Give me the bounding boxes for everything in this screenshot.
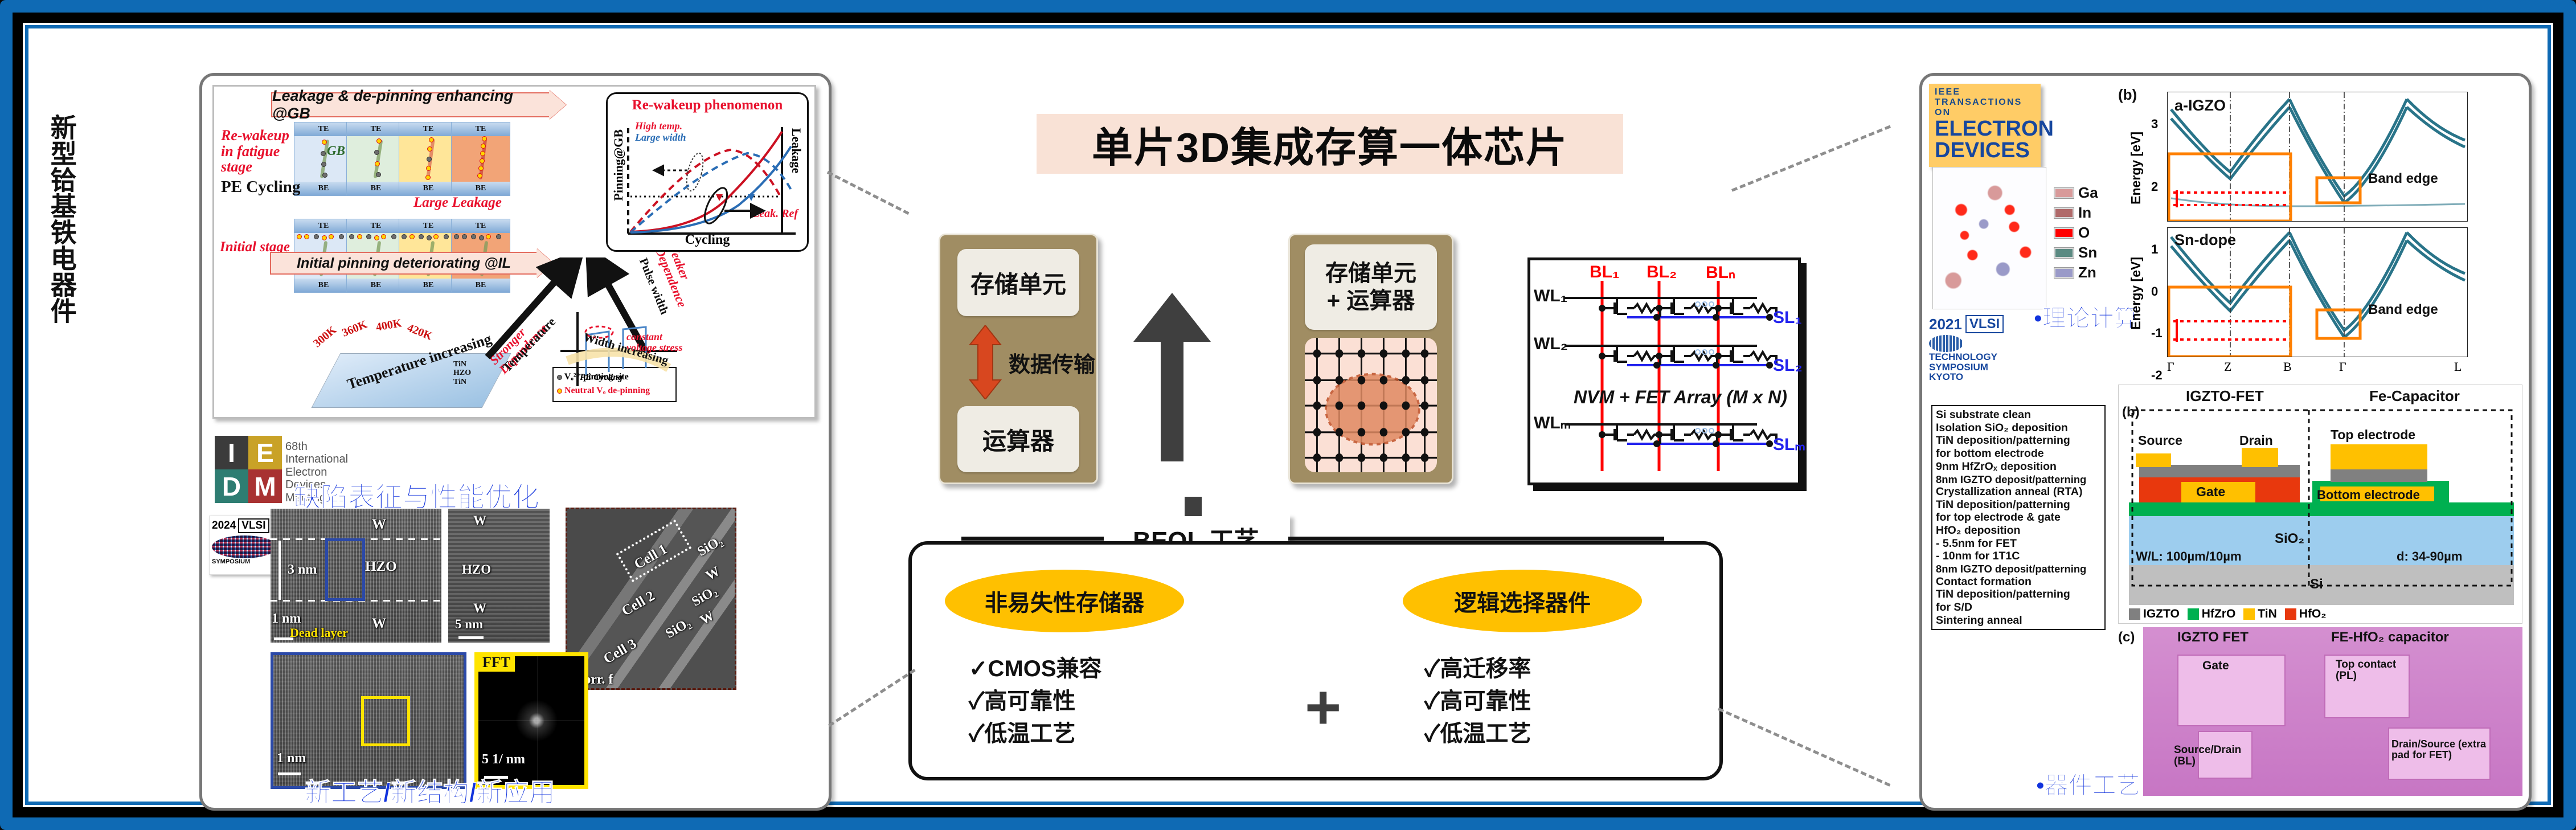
pill-logic-selector: 逻辑选择器件 [1403,570,1642,632]
rewakeup-chart: Re-wakeup phenomenon Pinning@GB Leakage … [606,92,809,252]
legend-hfzro: HfZrO [2202,607,2236,621]
band-edge-label-2: Band edge [2368,303,2438,317]
bitline-2-label: BL₂ [1647,263,1677,282]
o-label: O [2078,224,2090,242]
tem2-label-w-top: W [473,513,486,528]
legend-item: In [2054,204,2098,222]
fft-image: 5 1/ nm [474,652,588,789]
process-flow-box: Si substrate clean Isolation SiO₂ deposi… [1931,405,2106,630]
mim-te-label: TE [399,122,457,136]
ytick-3: 3 [2151,93,2158,156]
xsec-material-legend: IGZTO HfZrO TiN HfO₂ [2129,607,2327,621]
ieee-ted-badge: IEEE TRANSACTIONS ON ELECTRON DEVICES [1929,84,2041,167]
layer-tin-top: TiN [453,360,471,369]
band-yticks-bottom: 1 0 -1 -2 [2151,228,2163,396]
legend-item: O [2054,224,2098,242]
proc-step-14: Contact formation [1936,575,2101,588]
proc-step-10: HfO₂ deposition [1936,524,2101,537]
array-caption: NVM + FET Array (M x N) [1574,387,1787,408]
xsec-drain-label: Drain [2239,433,2273,448]
wordline-m-label: WLₘ [1534,413,1571,433]
mim-be-label: BE [347,182,405,195]
mim-be-label: BE [399,279,457,292]
mim-te-label: TE [452,219,510,233]
ytick-b-0: 0 [2151,271,2163,313]
label-large-leakage: Large Leakage [413,195,502,211]
band-panel-label: (b) [2118,86,2137,104]
mim-be-label: BE [294,182,353,195]
micro-gate-label: Gate [2202,659,2229,673]
proc-step-6: 8nm IGZTO deposit/patterning [1936,473,2101,485]
right-panel: IEEE TRANSACTIONS ON ELECTRON DEVICES Ga… [1919,73,2532,811]
micro-sourcedrain-label: Source/Drain (BL) [2174,745,2248,767]
xsec-topelec-label: Top electrode [2331,427,2415,443]
xsec-botelec-label: Bottom electrode [2317,488,2420,502]
pe-hysteresis-inset: constant voltage stress Width increasing… [555,306,686,392]
igzo-atomic-model [1932,167,2046,309]
mim-te-label: TE [399,219,457,233]
tem4-label-1nm: 1 nm [277,751,306,766]
legend-tin: TiN [2258,607,2276,621]
tem1-label-1nm: 1 nm [272,611,301,627]
mim-te-label: TE [347,122,405,136]
temp-300k: 300K [311,324,339,350]
wordline-1-label: WL₁ [1534,287,1567,306]
proc-step-7: Crystallization anneal (RTA) [1936,485,2101,498]
mim-te-label: TE [452,122,510,136]
arch-crossbar [1305,338,1437,472]
temp-400k: 400K [375,317,403,334]
logic-item-2: ✓高可靠性 [1424,685,1531,718]
proc-step-15: TiN deposition/patterning [1936,588,2101,601]
sourceline-1-label: SL₁ [1773,308,1802,328]
temp-360k: 360K [340,318,369,340]
xsec-dim-left: W/L: 100µm/10µm [2136,549,2242,564]
vlsi-emblem [212,535,277,558]
arch-card-separate: 存储单元 数据传输 运算器 [939,234,1098,484]
proc-step-12: - 10nm for 1T1C [1936,550,2101,563]
proc-step-17: Sintering anneal [1936,614,2101,627]
xtick-z: Z [2224,359,2231,374]
checklist-nvm: ✓CMOS兼容 ✓高可靠性 ✓低温工艺 [969,653,1102,750]
proc-step-2: Isolation SiO₂ deposition [1936,422,2101,435]
plus-sign: + [1305,682,1341,733]
proc-step-1: Si substrate clean [1936,408,2101,422]
tem-image-cells: SiO₂ Cell 1 W SiO₂ Cell 2 W SiO₂ Cell 3 … [566,508,736,690]
tem-image-hzo-w: W HZO W 3 nm 1 nm Dead layer [271,509,441,643]
mim-be-label: BE [294,279,353,292]
legend-item: Sn [2054,244,2098,261]
o-swatch [2054,228,2074,238]
band-plot-sndope: Sn-dope Band edge [2167,227,2468,357]
connector-right-bottom [1718,708,1891,787]
vlsi-sub: SYMPOSIUM [212,558,277,565]
beol-rule-left [961,537,1104,541]
wordline-2-label: WL₂ [1534,334,1568,354]
tem-image-hzo-w-2: W HZO W 5 nm [448,509,550,643]
proc-step-9: for top electrode & gate [1936,511,2101,524]
arch-data-transfer-label: 数据传输 [1009,347,1095,378]
rewakeup-curves [608,94,810,254]
legend-hfo2: HfO₂ [2299,607,2327,621]
poster-frame: 新型铪基铁电器件 高迁移率氧化物晶体管 Leakage & de-pinning… [0,0,2576,830]
ytick-b-m1: -1 [2151,312,2163,354]
zn-swatch [2054,268,2074,278]
nvm-item-3: ✓低温工艺 [969,718,1102,750]
checklist-logic: ✓高迁移率 ✓高可靠性 ✓低温工艺 [1424,653,1531,750]
iedm-letter-m: M [248,469,282,503]
poster-inner: 新型铪基铁电器件 高迁移率氧化物晶体管 Leakage & de-pinning… [25,25,2551,805]
mechanism-figure: Leakage & de-pinning enhancing @GB TE BE… [212,85,816,419]
center-title-band: 单片3D集成存算一体芯片 [1037,114,1623,174]
iedm-letter-i: I [215,436,248,469]
label-inset-pe-cycling: PE Cycling [580,373,623,383]
xtick-b: B [2283,359,2292,374]
legend-item: Zn [2054,264,2098,281]
center-title: 单片3D集成存算一体芯片 [1092,114,1568,174]
vlsi2021-year: 2021 [1929,316,1962,333]
band-title-aigzo: a-IGZO [2174,97,2226,115]
ieee-line3: DEVICES [1935,140,2035,161]
band-ylabel-bottom: Energy [eV] [2128,257,2144,330]
tem1-label-w-top: W [372,517,386,533]
vlsi2021-l2: SYMPOSIUM [1929,362,2037,373]
band-ylabel-top: Energy [eV] [2128,132,2144,205]
iedm-letter-d: D [215,469,248,503]
pill-nvm: 非易失性存储器 [945,570,1184,632]
band-plot-aigzo: a-IGZO Band edge [2167,92,2468,222]
xtick-l: L [2454,359,2462,374]
connector-left-bottom [828,669,916,727]
beol-rule-right [1288,537,1664,541]
iedm-letter-e: E [248,436,282,469]
connector-left-top [827,171,910,215]
band-title-sndope: Sn-dope [2174,231,2236,249]
mim-te-label: TE [294,122,353,136]
micro-drainsource-label: Drain/Source (extra pad for FET) [2391,739,2493,761]
tem2-label-5nm: 5 nm [455,617,483,632]
zn-label: Zn [2078,264,2096,281]
left-caption-bottom: 新工艺/新结构/新应用 [305,772,555,809]
in-label: In [2078,204,2091,222]
proc-step-13: 8nm IGZTO deposit/patterning [1936,563,2101,575]
mim-stack: TE BE [294,122,353,196]
xsec-gate-label: Gate [2196,484,2225,500]
fft-scale: 5 1/ nm [482,752,525,767]
left-panel: Leakage & de-pinning enhancing @GB TE BE… [199,73,832,811]
ieee-line1: IEEE TRANSACTIONS ON [1935,87,2035,118]
mim-te-label: TE [294,219,353,233]
tem1-label-hzo: HZO [365,559,397,575]
wafer-layer-labels: TiN HZO TiN [453,360,471,386]
band-edge-label: Band edge [2368,172,2438,186]
micro-panel-label: (c) [2118,629,2135,645]
label-pe-cycling: PE Cycling [221,178,300,197]
beol-stub [1185,497,1202,516]
xsec-sio2-label: SiO₂ [2275,531,2304,547]
bitline-1-label: BL₁ [1590,263,1619,282]
vlsi2021-l3: KYOTO [1929,372,2037,382]
side-title-left: 新型铪基铁电器件 [36,114,87,329]
sourceline-m-label: SLₘ [1773,435,1805,455]
data-transfer-arrow [965,325,1005,399]
sn-swatch [2054,248,2074,258]
mim-stack: TE BE [346,122,406,196]
xsec-source-label: Source [2138,433,2182,448]
vlsi-name: VLSI [238,518,269,533]
xsec-si-label: Si [2310,576,2323,592]
sn-label: Sn [2078,244,2097,261]
transition-arrow [1128,273,1224,461]
vlsi2021-l1: TECHNOLOGY [1929,352,2037,362]
ga-swatch [2054,188,2074,198]
bitline-n-label: BLₙ [1706,263,1735,283]
mim-be-label: BE [347,279,405,292]
legend-item: Ga [2054,184,2098,202]
arch-memory-cell: 存储单元 [957,249,1079,316]
logic-item-3: ✓低温工艺 [1424,718,1531,750]
proc-step-5: 9nm HfZrOₓ deposition [1936,460,2101,473]
vlsi2021-name: VLSI [1965,315,2004,333]
tem1-label-w-bot: W [372,616,386,632]
nvm-fet-array-panel: BL₁ BL₂ BLₙ WL₁ WL₂ WLₘ SL₁ SL₂ SLₘ NVM … [1527,257,1801,485]
proc-step-16: for S/D [1936,601,2101,614]
band-structure-group: (b) Energy [eV] Energy [eV] [2118,86,2522,371]
fft-label: FFT [478,653,515,672]
banner-leakage-depinning: Leakage & de-pinning enhancing @GB [271,92,550,117]
layer-tin-bottom: TiN [453,378,471,386]
requirements-box: 非易失性存储器 逻辑选择器件 ✓CMOS兼容 ✓高可靠性 ✓低温工艺 + ✓高迁… [908,541,1723,780]
device-micrograph: (c) IGZTO FET FE-HfO₂ capacitor Gate Top… [2118,627,2522,798]
tem2-label-hzo: HZO [462,562,491,577]
ytick-b-1: 1 [2151,228,2163,271]
vlsi-2021-logo: 2021 VLSI TECHNOLOGY SYMPOSIUM KYOTO [1929,315,2037,382]
connector-right-top [1731,125,1891,192]
ga-label: Ga [2078,184,2098,202]
ytick-2: 2 [2151,156,2158,218]
temp-420k: 420K [405,321,434,343]
sourceline-2-label: SL₂ [1773,356,1803,375]
device-cross-section: (b) IGZTO-FET Fe-Capacitor [2118,385,2522,624]
iedm-logo: I E D M [215,436,282,503]
logic-item-1: ✓高迁移率 [1424,653,1531,685]
xtick-gamma2: Γ [2339,359,2346,374]
label-re-wakeup: Re-wakeup in fatigue stage [221,128,295,175]
layer-hzo: HZO [453,369,471,377]
nvm-item-1: ✓CMOS兼容 [969,653,1102,685]
proc-step-4: for bottom electrode [1936,447,2101,460]
mim-te-label: TE [347,219,405,233]
mim-stack: TE BE [451,122,510,196]
mim-stack: TE BE [399,122,458,196]
tem-image-hrtem: 1 nm [271,652,466,789]
tem1-label-3nm: 3 nm [288,562,317,578]
atom-legend: Ga In O Sn Zn [2054,184,2098,284]
micro-topcontact-label: Top contact (PL) [2336,659,2404,682]
xtick-gamma1: Γ [2167,359,2174,374]
xsec-dim-right: d: 34-90µm [2397,549,2462,564]
legend-igzto: IGZTO [2143,607,2180,621]
label-gb: GB [327,144,345,158]
proc-step-11: - 5.5nm for FET [1936,537,2101,550]
micro-title-right: FE-HfO₂ capacitor [2331,629,2449,645]
arch-alu: 运算器 [957,406,1079,472]
mim-be-label: BE [399,182,457,195]
arch-cim-label: 存储单元 + 运算器 [1305,244,1437,330]
in-swatch [2054,208,2074,218]
nvm-item-2: ✓高可靠性 [969,685,1102,718]
vlsi-year: 2024 [212,520,236,532]
tem1-label-deadlayer: Dead layer [290,625,348,640]
tem2-label-w-bot: W [473,601,486,616]
vlsi-2024-logo: 2024 VLSI SYMPOSIUM [209,516,280,575]
mim-be-label: BE [452,182,510,195]
proc-step-3: TiN deposition/patterning [1936,434,2101,447]
arch-card-cim: 存储单元 + 运算器 [1288,234,1453,484]
proc-step-8: TiN deposition/patterning [1936,498,2101,512]
micro-title-left: IGZTO FET [2177,629,2249,645]
ieee-line2: ELECTRON [1935,118,2035,140]
